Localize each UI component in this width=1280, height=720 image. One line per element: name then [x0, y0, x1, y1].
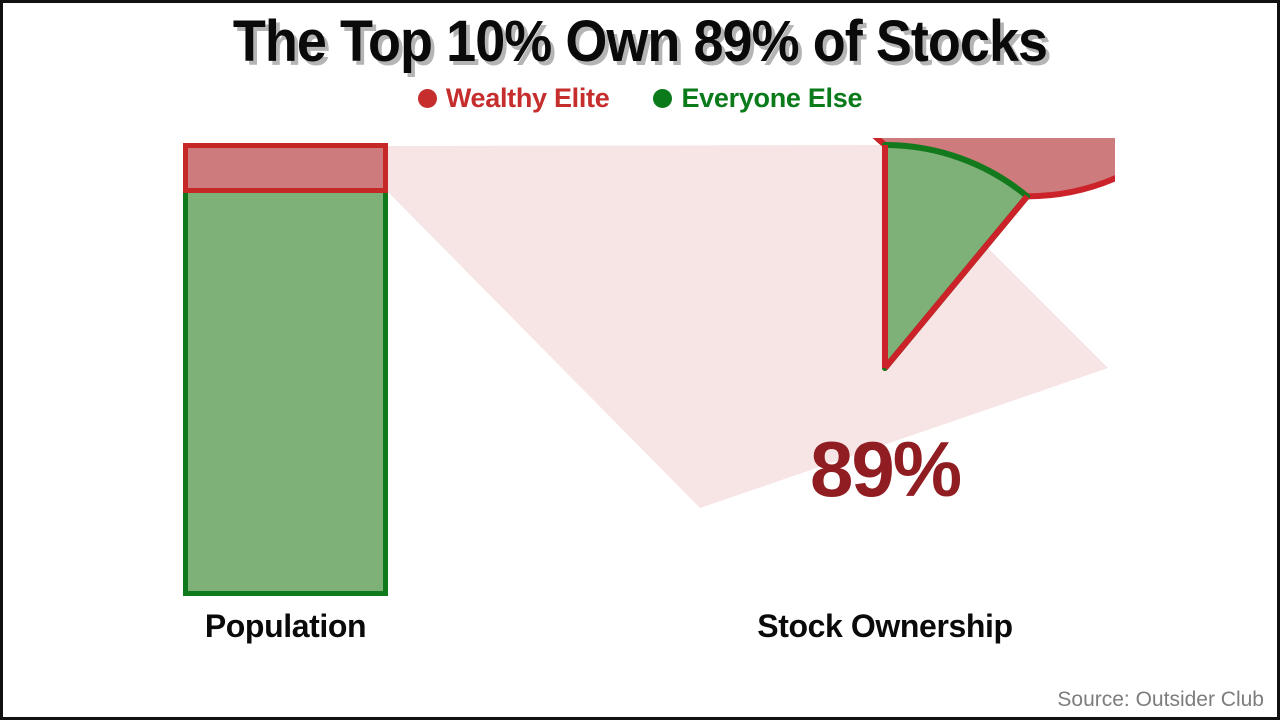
source-note: Source: Outsider Club — [1057, 688, 1264, 712]
pie-slice-everyone-else[interactable] — [885, 145, 1027, 368]
stock-ownership-pie — [655, 138, 1115, 598]
chart-canvas: The Top 10% Own 89% of Stocks Wealthy El… — [0, 0, 1280, 720]
bar-segment-everyone-else[interactable] — [183, 193, 388, 596]
population-stacked-bar — [183, 143, 388, 596]
stock-ownership-axis-label: Stock Ownership — [660, 608, 1110, 645]
bar-segment-wealthy-elite[interactable] — [183, 143, 388, 193]
population-axis-label: Population — [183, 608, 388, 645]
